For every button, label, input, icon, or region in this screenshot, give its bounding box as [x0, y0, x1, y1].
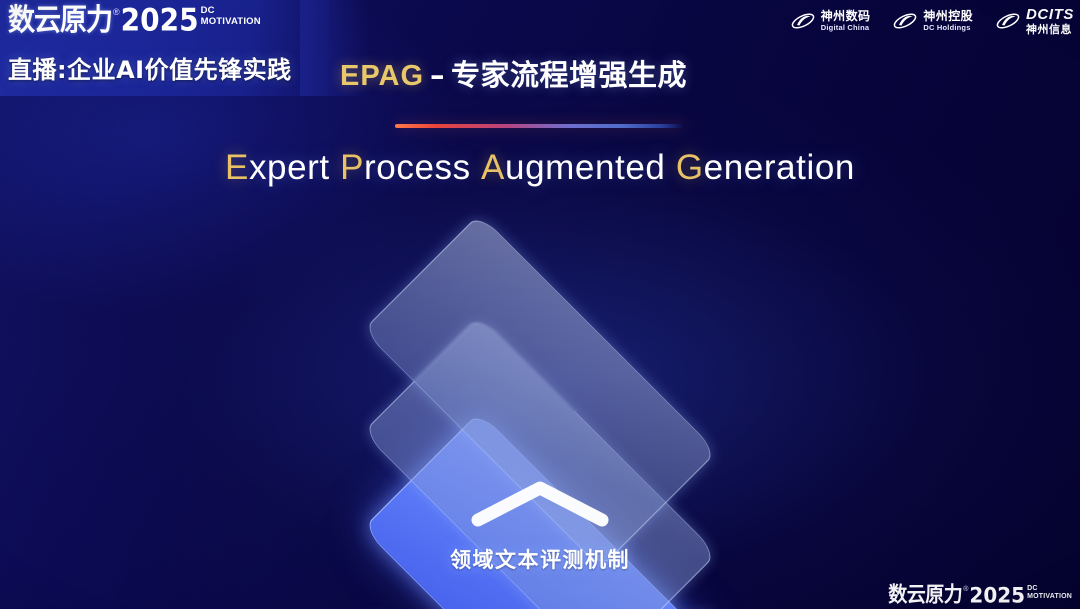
brand-name-cn: 数云原力 [8, 4, 112, 38]
partner-logo-row: 神州数码 Digital China 神州控股 DC Holdings DCIT… [790, 7, 1074, 35]
watermark-dc-motivation: DC MOTIVATION [1027, 585, 1072, 601]
diagram-layer-top-label: 领域文本评测机制 [0, 544, 1080, 574]
partner-name-cn: DCITS [1026, 7, 1074, 23]
brand-dc-motivation: DC MOTIVATION [201, 6, 261, 27]
watermark-dc-line1: DC [1027, 585, 1038, 592]
subtitle-word-expert: xpert [249, 148, 330, 187]
gradient-divider [395, 124, 685, 128]
partner-logo-digital-china: 神州数码 Digital China [790, 10, 871, 32]
footer-watermark-logo: 数云原力 ® 2025 DC MOTIVATION [888, 584, 1072, 605]
subtitle-word-process: rocess [364, 148, 471, 187]
swirl-logo-icon [995, 10, 1021, 32]
partner-logo-dc-holdings: 神州控股 DC Holdings [892, 10, 973, 32]
partner-name-cn: 神州数码 [821, 10, 871, 23]
slide-headline: EPAG–专家流程增强生成 [340, 52, 687, 94]
brand-year: 2025 [121, 4, 199, 37]
partner-logo-dcits: DCITS 神州信息 [995, 7, 1074, 35]
partner-name-en: DC Holdings [923, 24, 973, 32]
partner-name-en: 神州信息 [1026, 24, 1074, 36]
headline-separator: – [430, 58, 445, 92]
layered-architecture-diagram: 领域文本评测机制 Dynamic MOE 长文本记忆 三类语义建模模块 [0, 210, 1080, 590]
registered-mark-icon: ® [113, 6, 120, 18]
swirl-logo-icon [790, 10, 816, 32]
watermark-name-cn: 数云原力 [888, 584, 962, 607]
slide-canvas: 数云原力 ® 2025 DC MOTIVATION 直播:企业AI价值先锋实践 … [0, 0, 1080, 609]
subtitle-cap-a: A [481, 148, 505, 187]
brand-logo: 数云原力 ® 2025 DC MOTIVATION [8, 4, 261, 34]
subtitle-cap-g: G [676, 148, 704, 187]
subtitle-word-augmented: ugmented [505, 148, 665, 187]
subtitle-word-generation: eneration [704, 148, 855, 187]
partner-name-cn: 神州控股 [923, 10, 973, 23]
watermark-year: 2025 [969, 584, 1025, 607]
headline-title-cn: 专家流程增强生成 [451, 58, 687, 92]
swirl-logo-icon [892, 10, 918, 32]
live-stream-title: 直播:企业AI价值先锋实践 [8, 50, 292, 85]
slide-subtitle: Expert Process Augmented Generation [0, 148, 1080, 188]
watermark-registered-mark-icon: ® [963, 585, 968, 594]
brand-dc-line1: DC [201, 5, 215, 16]
brand-dc-line2: MOTIVATION [201, 16, 261, 27]
headline-acronym: EPAG [340, 60, 424, 92]
partner-name-en: Digital China [821, 24, 871, 32]
watermark-dc-line2: MOTIVATION [1027, 593, 1072, 600]
subtitle-cap-p: P [340, 148, 364, 187]
subtitle-cap-e: E [225, 148, 249, 187]
